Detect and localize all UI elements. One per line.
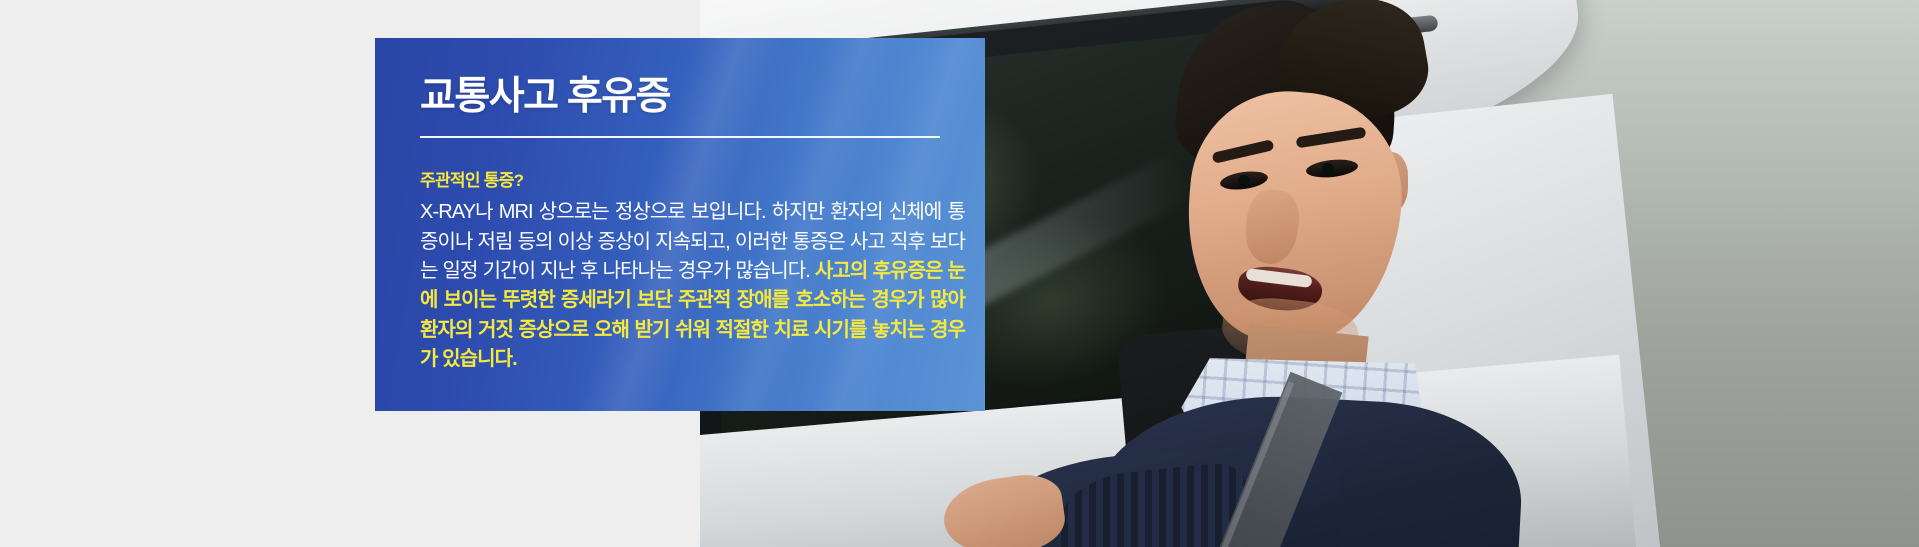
- driver-figure: [1030, 0, 1590, 547]
- text-panel: 교통사고 후유증 주관적인 통증? X-RAY나 MRI 상으로는 정상으로 보…: [375, 38, 985, 411]
- driver-pupil-right: [1322, 163, 1334, 175]
- title-divider: [420, 136, 940, 138]
- banner-title: 교통사고 후유증: [420, 76, 985, 118]
- banner-root: 교통사고 후유증 주관적인 통증? X-RAY나 MRI 상으로는 정상으로 보…: [0, 0, 1919, 547]
- text-panel-content: 교통사고 후유증 주관적인 통증? X-RAY나 MRI 상으로는 정상으로 보…: [375, 38, 985, 374]
- banner-subtitle: 주관적인 통증?: [420, 166, 985, 191]
- banner-body: X-RAY나 MRI 상으로는 정상으로 보입니다. 하지만 환자의 신체에 통…: [420, 198, 965, 374]
- driver-pupil-left: [1238, 175, 1250, 187]
